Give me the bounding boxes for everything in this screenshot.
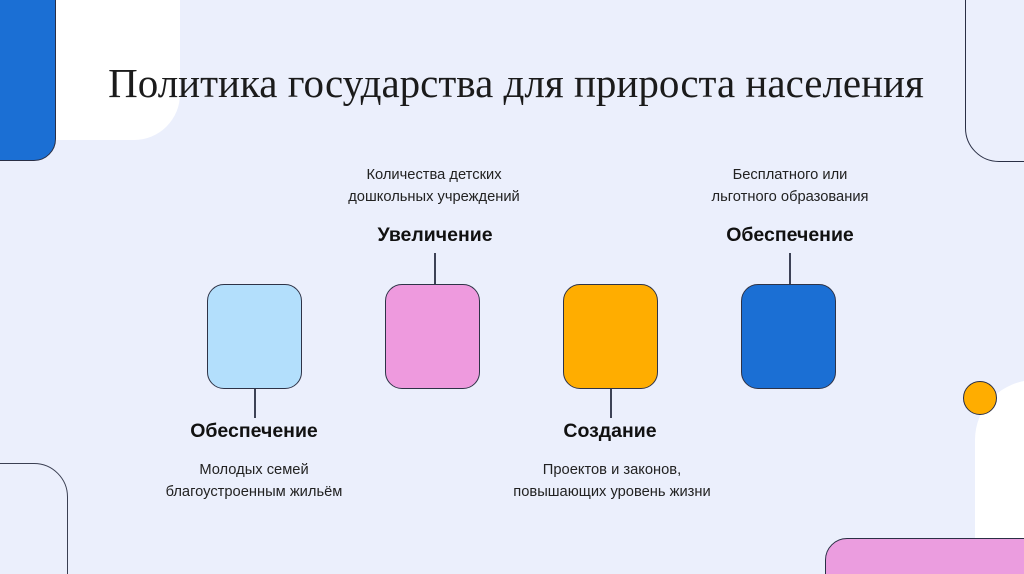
diagram-node-1[interactable] bbox=[207, 284, 302, 389]
node-4-description: Бесплатного или льготного образования bbox=[665, 164, 915, 208]
node-3-description-line-1: Проектов и законов, bbox=[482, 459, 742, 481]
node-3-description-line-2: повышающих уровень жизни bbox=[482, 481, 742, 503]
connector-stem-node-4 bbox=[789, 253, 791, 284]
diagram-node-2[interactable] bbox=[385, 284, 480, 389]
node-2-heading: Увеличение bbox=[335, 224, 535, 247]
slide-canvas: Политика государства для прироста населе… bbox=[0, 0, 1024, 574]
pink-rounded-rect-bottom-right-decoration bbox=[825, 538, 1024, 574]
slide-title: Политика государства для прироста населе… bbox=[96, 57, 936, 109]
connector-stem-node-1 bbox=[254, 389, 256, 418]
diagram-node-4[interactable] bbox=[741, 284, 836, 389]
outlined-rounded-rect-bottom-left-decoration bbox=[0, 463, 68, 574]
node-4-heading: Обеспечение bbox=[690, 224, 890, 247]
node-3-description: Проектов и законов, повышающих уровень ж… bbox=[482, 459, 742, 503]
node-1-heading: Обеспечение bbox=[154, 420, 354, 443]
node-2-description-line-2: дошкольных учреждений bbox=[309, 186, 559, 208]
outlined-rounded-rect-top-right-decoration bbox=[965, 0, 1024, 162]
connector-stem-node-2 bbox=[434, 253, 436, 284]
diagram-node-3[interactable] bbox=[563, 284, 658, 389]
blue-rounded-rect-top-left-decoration bbox=[0, 0, 56, 161]
node-2-description: Количества детских дошкольных учреждений bbox=[309, 164, 559, 208]
node-3-heading: Создание bbox=[510, 420, 710, 443]
node-1-description: Молодых семей благоустроенным жильём bbox=[129, 459, 379, 503]
node-1-description-line-1: Молодых семей bbox=[129, 459, 379, 481]
connector-stem-node-3 bbox=[610, 389, 612, 418]
orange-circle-decoration bbox=[963, 381, 997, 415]
node-4-description-line-2: льготного образования bbox=[665, 186, 915, 208]
node-2-description-line-1: Количества детских bbox=[309, 164, 559, 186]
node-1-description-line-2: благоустроенным жильём bbox=[129, 481, 379, 503]
node-4-description-line-1: Бесплатного или bbox=[665, 164, 915, 186]
